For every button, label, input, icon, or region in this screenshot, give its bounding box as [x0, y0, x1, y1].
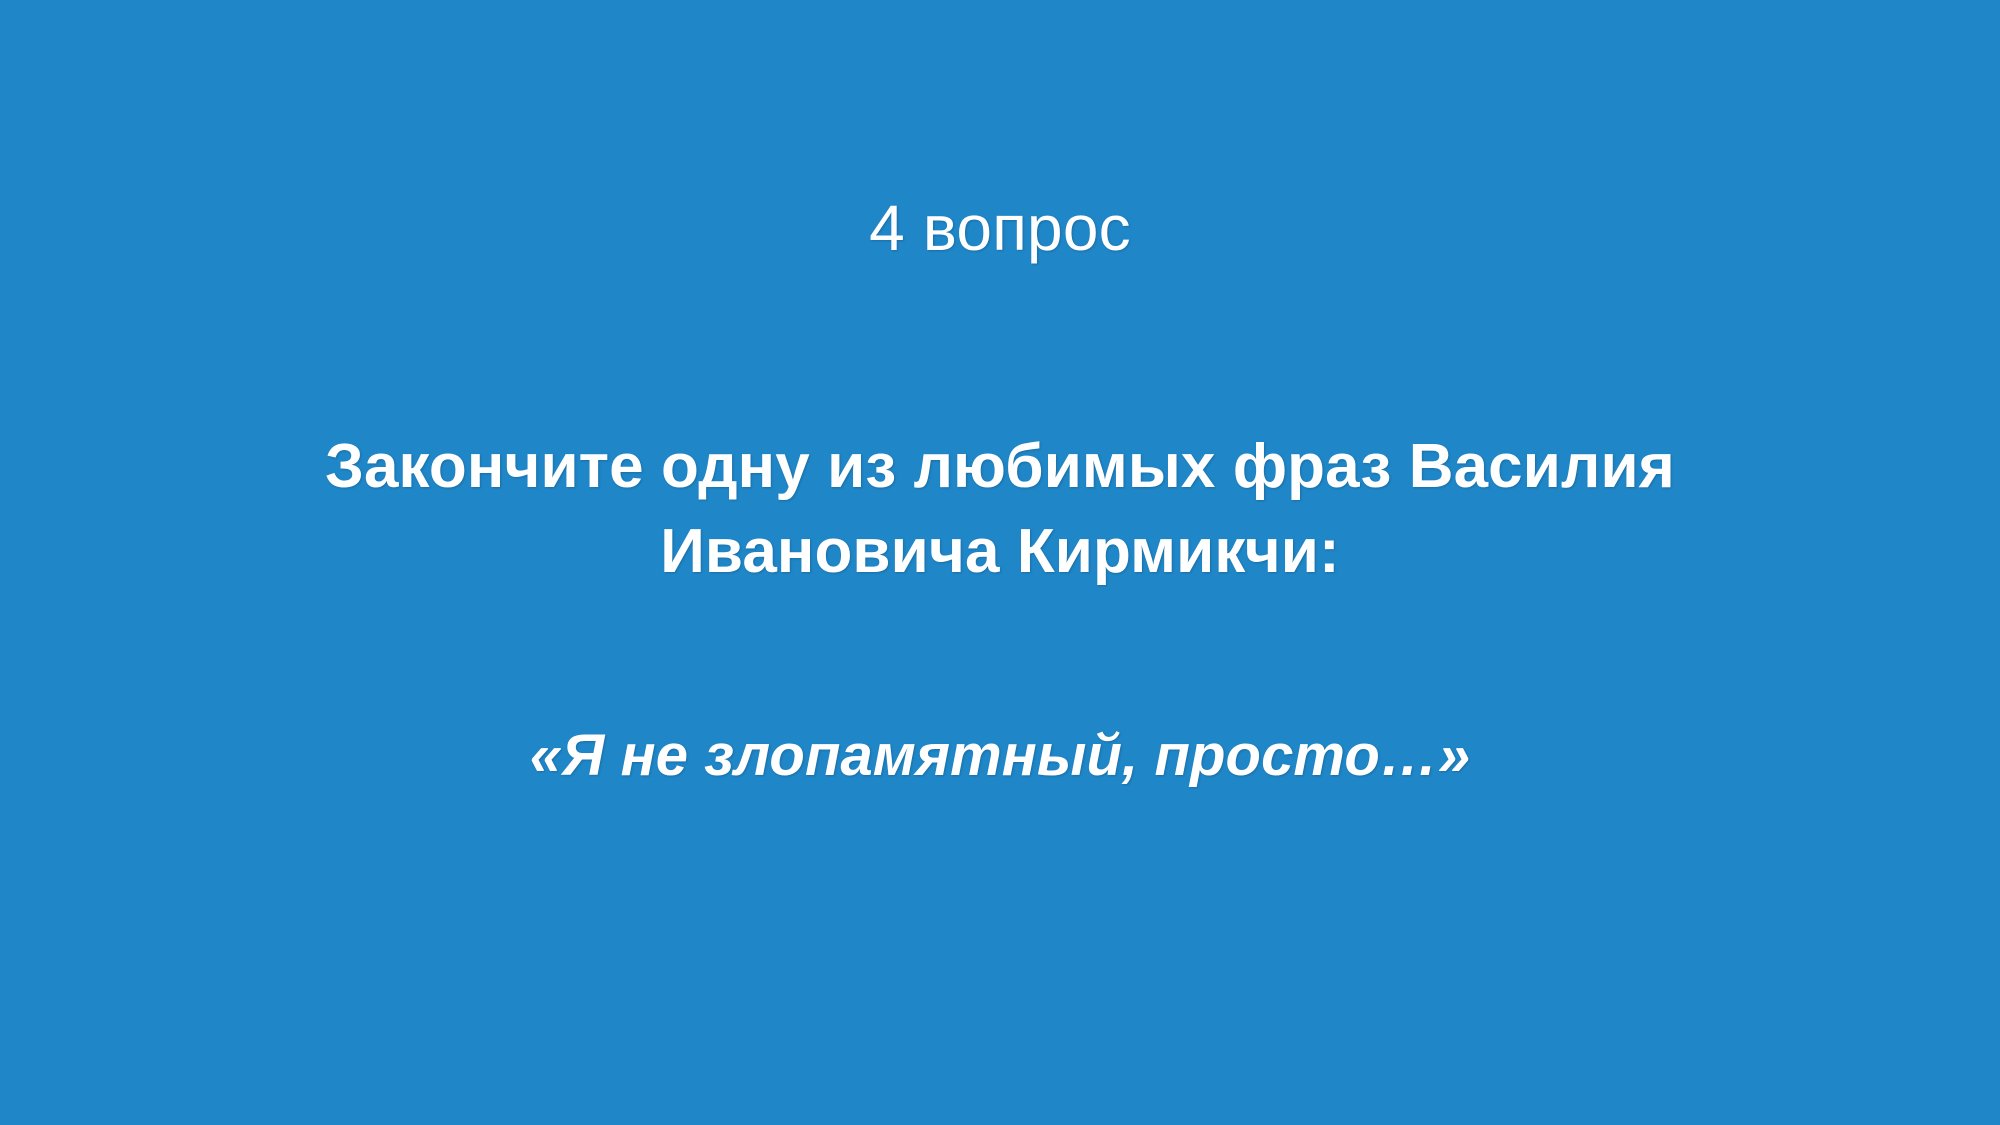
- slide-body-block: Закончите одну из любимых фраз Василия И…: [220, 424, 1780, 594]
- page-title: 4 вопрос: [0, 196, 2000, 260]
- slide-quote-block: «Я не злопамятный, просто…»: [150, 716, 1850, 796]
- slide-title-block: 4 вопрос: [0, 0, 2000, 260]
- presentation-slide: 4 вопрос Закончите одну из любимых фраз …: [0, 0, 2000, 1125]
- body-text-line-1: Закончите одну из любимых фраз Василия: [220, 424, 1780, 509]
- quote-text: «Я не злопамятный, просто…»: [150, 716, 1850, 796]
- body-text-line-2: Ивановича Кирмикчи:: [220, 509, 1780, 594]
